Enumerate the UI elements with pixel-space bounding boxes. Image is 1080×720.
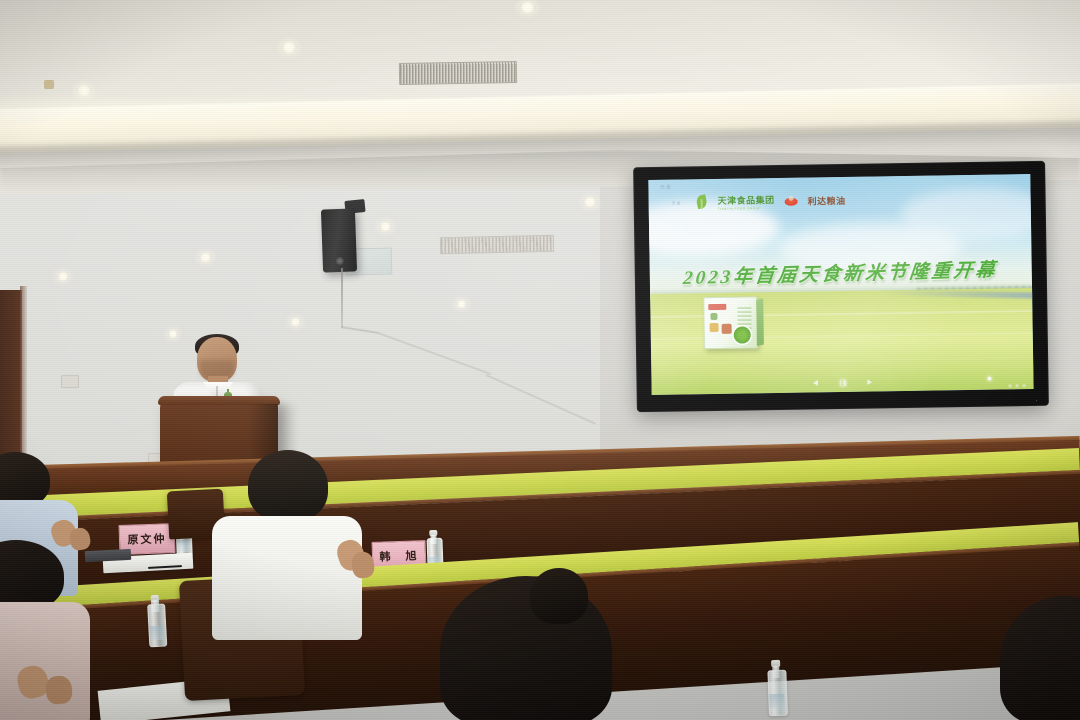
next-icon[interactable] [867,379,872,385]
water-bottle [767,660,786,717]
ceiling-air-vent-icon [399,61,517,85]
downlight-icon [379,222,392,231]
logo-tianjin-food-group: 天津食品集团 TIANJIN FOOD GROUP [717,193,774,211]
package-icon [722,324,732,334]
bottle-label [177,540,190,552]
display-screen[interactable]: 天食 天食 天津食品集团 TIANJIN FOOD GROUP 利达粮油 202… [648,174,1033,395]
wall-display[interactable]: 天食 天食 天津食品集团 TIANJIN FOOD GROUP 利达粮油 202… [634,162,1048,411]
downlight-icon [519,2,536,13]
slide-logo-row: 天食 天津食品集团 TIANJIN FOOD GROUP 利达粮油 [671,192,845,212]
display-brand-mark: • [1036,398,1038,403]
downlight-icon [76,85,92,96]
logo-lida-grain-oil: 利达粮油 [807,194,845,208]
downlight-icon [290,318,301,326]
conference-room-photo: 天食 天食 天津食品集团 TIANJIN FOOD GROUP 利达粮油 202… [0,0,1080,720]
sun-icon [784,196,797,207]
sprinkler-icon [44,80,54,89]
audience-hair [1000,596,1080,720]
field-furrow [651,357,1033,365]
audience-hair [248,450,328,522]
previous-icon[interactable] [813,380,818,386]
speaker-cable [341,268,343,328]
audience-member [1000,596,1080,720]
package-side-panel [757,299,765,347]
ceiling-air-vent-icon [440,235,554,254]
slide-watermark: 天食 [660,184,672,191]
audience-hair [530,568,588,624]
wall-loudspeaker [321,208,357,272]
downlight-icon [583,197,597,207]
downlight-icon [57,272,69,281]
product-package-image [704,297,759,350]
package-seal-badge [734,327,751,344]
audience-member [530,568,590,626]
pause-icon[interactable] [840,380,845,386]
water-bottle [147,595,166,648]
bottle-label [149,626,164,640]
leaf-icon [695,195,707,210]
audience-torso [0,602,90,720]
nameplate-text: 原文仲 [127,530,167,547]
package-icon [710,323,719,332]
wall-outlet-icon [61,375,79,388]
downlight-icon [199,253,212,262]
bottle-label [769,693,784,708]
audience-hand [45,675,73,705]
downlight-icon [456,300,467,308]
downlight-icon [168,330,178,338]
audience-member [230,450,400,640]
logo-primary-text: 天津食品集团 [717,195,774,206]
package-icon [711,313,718,320]
package-label-band [709,304,727,310]
audience-torso [212,516,362,640]
downlight-icon [281,42,297,53]
presentation-slide: 天食 天食 天津食品集团 TIANJIN FOOD GROUP 利达粮油 202… [648,174,1033,395]
player-tray-icons[interactable] [1009,384,1026,387]
slide-logo-faint-mark: 天食 [672,200,686,206]
